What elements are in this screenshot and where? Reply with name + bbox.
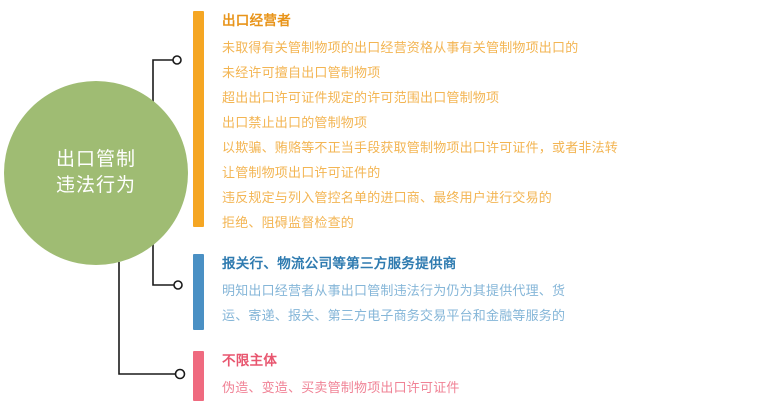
list-item: 明知出口经营者从事出口管制违法行为仍为其提供代理、货	[222, 278, 565, 303]
branch-bar-thirdparty	[193, 254, 204, 330]
branch-list-anysubject: 伪造、变造、买卖管制物项出口许可证件	[222, 375, 460, 400]
branch-body-anysubject: 不限主体 伪造、变造、买卖管制物项出口许可证件	[204, 351, 460, 401]
branch-title-exporter: 出口经营者	[222, 11, 618, 31]
branch-body-thirdparty: 报关行、物流公司等第三方服务提供商 明知出口经营者从事出口管制违法行为仍为其提供…	[204, 254, 565, 330]
list-item: 违反规定与列入管控名单的进口商、最终用户进行交易的	[222, 185, 618, 210]
connector-node-anysubject	[176, 370, 185, 379]
list-item: 让管制物项出口许可证件的	[222, 160, 618, 185]
list-item: 以欺骗、贿赂等不正当手段获取管制物项出口许可证件，或者非法转	[222, 135, 618, 160]
connector-node-exporter	[173, 56, 181, 64]
list-item: 伪造、变造、买卖管制物项出口许可证件	[222, 375, 460, 400]
branch-bar-exporter	[193, 11, 204, 227]
branch-list-thirdparty: 明知出口经营者从事出口管制违法行为仍为其提供代理、货 运、寄递、报关、第三方电子…	[222, 278, 565, 328]
connector-path-thirdparty	[153, 240, 174, 285]
branch-thirdparty: 报关行、物流公司等第三方服务提供商 明知出口经营者从事出口管制违法行为仍为其提供…	[193, 254, 565, 330]
branch-anysubject: 不限主体 伪造、变造、买卖管制物项出口许可证件	[193, 351, 460, 401]
export-control-violations-infographic: 出口管制 违法行为 出口经营者 未取得有关管制物项的出口经营资格从事有关管制物项…	[0, 0, 760, 409]
branch-exporter: 出口经营者 未取得有关管制物项的出口经营资格从事有关管制物项出口的 未经许可擅自…	[193, 11, 618, 235]
list-item: 未经许可擅自出口管制物项	[222, 60, 618, 85]
connector-path-anysubject	[119, 262, 175, 374]
branch-bar-anysubject	[193, 351, 204, 401]
hub-label-line1: 出口管制	[56, 147, 136, 173]
branch-title-anysubject: 不限主体	[222, 351, 460, 371]
branch-body-exporter: 出口经营者 未取得有关管制物项的出口经营资格从事有关管制物项出口的 未经许可擅自…	[204, 11, 618, 235]
branch-title-thirdparty: 报关行、物流公司等第三方服务提供商	[222, 254, 565, 274]
branch-list-exporter: 未取得有关管制物项的出口经营资格从事有关管制物项出口的 未经许可擅自出口管制物项…	[222, 35, 618, 235]
connector-node-thirdparty	[174, 281, 182, 289]
list-item: 未取得有关管制物项的出口经营资格从事有关管制物项出口的	[222, 35, 618, 60]
list-item: 拒绝、阻碍监督检查的	[222, 210, 618, 235]
list-item: 出口禁止出口的管制物项	[222, 110, 618, 135]
list-item: 超出出口许可证件规定的许可范围出口管制物项	[222, 85, 618, 110]
list-item: 运、寄递、报关、第三方电子商务交易平台和金融等服务的	[222, 303, 565, 328]
hub-circle: 出口管制 违法行为	[4, 81, 188, 265]
hub-label-line2: 违法行为	[56, 173, 136, 199]
